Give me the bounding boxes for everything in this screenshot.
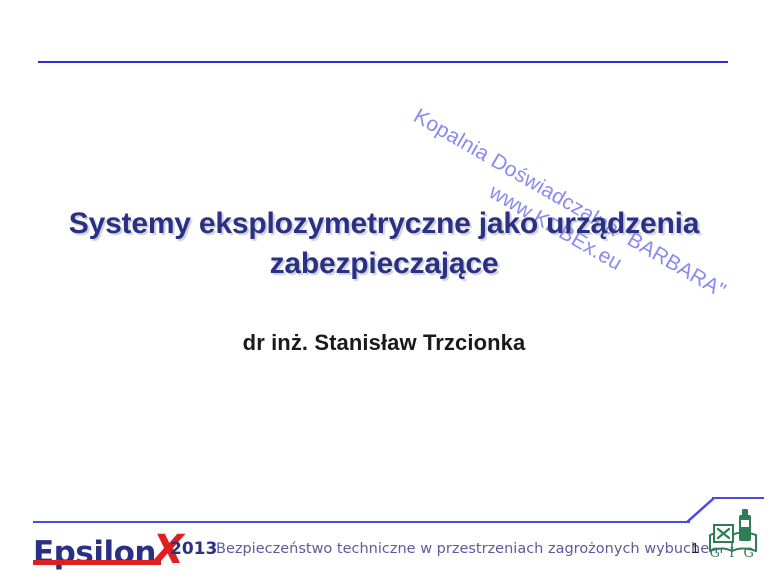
- slide-title-line-1: Systemy eksplozymetryczne jako urządzeni…: [69, 207, 699, 240]
- epsilonx-logo-text: Epsilon: [33, 535, 156, 571]
- footer-year: 2013: [170, 539, 217, 559]
- gig-logo-label: G I G: [706, 546, 760, 561]
- epsilonx-logo-underline: [33, 560, 161, 565]
- footer-divider-rule-right: [712, 497, 764, 499]
- slide-title-line-2: zabezpieczające: [270, 247, 499, 280]
- top-divider-rule: [38, 61, 728, 63]
- presentation-slide: Kopalnia Doświadczalna "BARBARA" www.KDB…: [0, 0, 768, 576]
- footer-divider-rule: [33, 521, 690, 523]
- slide-author: dr inż. Stanisław Trzcionka: [40, 330, 728, 356]
- footer-tagline: Bezpieczeństwo techniczne w przestrzenia…: [216, 541, 723, 557]
- page-number: 1: [691, 540, 699, 557]
- slide-title: Systemy eksplozymetryczne jako urządzeni…: [40, 204, 728, 284]
